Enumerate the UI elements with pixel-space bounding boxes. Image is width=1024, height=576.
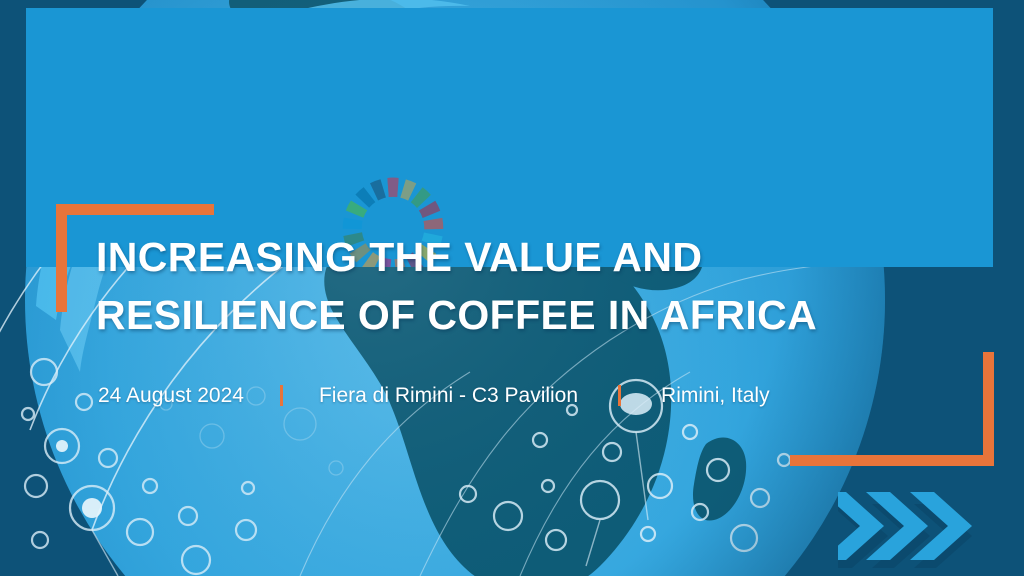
presentation-slide: INCREASING THE VALUE AND RESILIENCE OF C… [0, 0, 1024, 576]
event-venue: Fiera di Rimini - C3 Pavilion [319, 385, 578, 406]
title-line-1: INCREASING THE VALUE AND [96, 228, 976, 286]
event-date: 24 August 2024 [98, 385, 244, 406]
subtitle-separator-1 [280, 385, 283, 406]
orange-corner-bracket-right [983, 352, 994, 466]
subtitle-bar: 24 August 2024 Fiera di Rimini - C3 Pavi… [98, 385, 770, 406]
subtitle-separator-2 [618, 385, 621, 406]
orange-corner-bracket-top [56, 204, 214, 215]
title-block: INCREASING THE VALUE AND RESILIENCE OF C… [96, 228, 976, 344]
title-line-2: RESILIENCE OF COFFEE IN AFRICA [96, 286, 976, 344]
orange-corner-bracket-left [56, 204, 67, 312]
chevron-arrows [838, 470, 1024, 576]
event-location: Rimini, Italy [661, 385, 770, 406]
orange-corner-bracket-bottom [790, 455, 994, 466]
